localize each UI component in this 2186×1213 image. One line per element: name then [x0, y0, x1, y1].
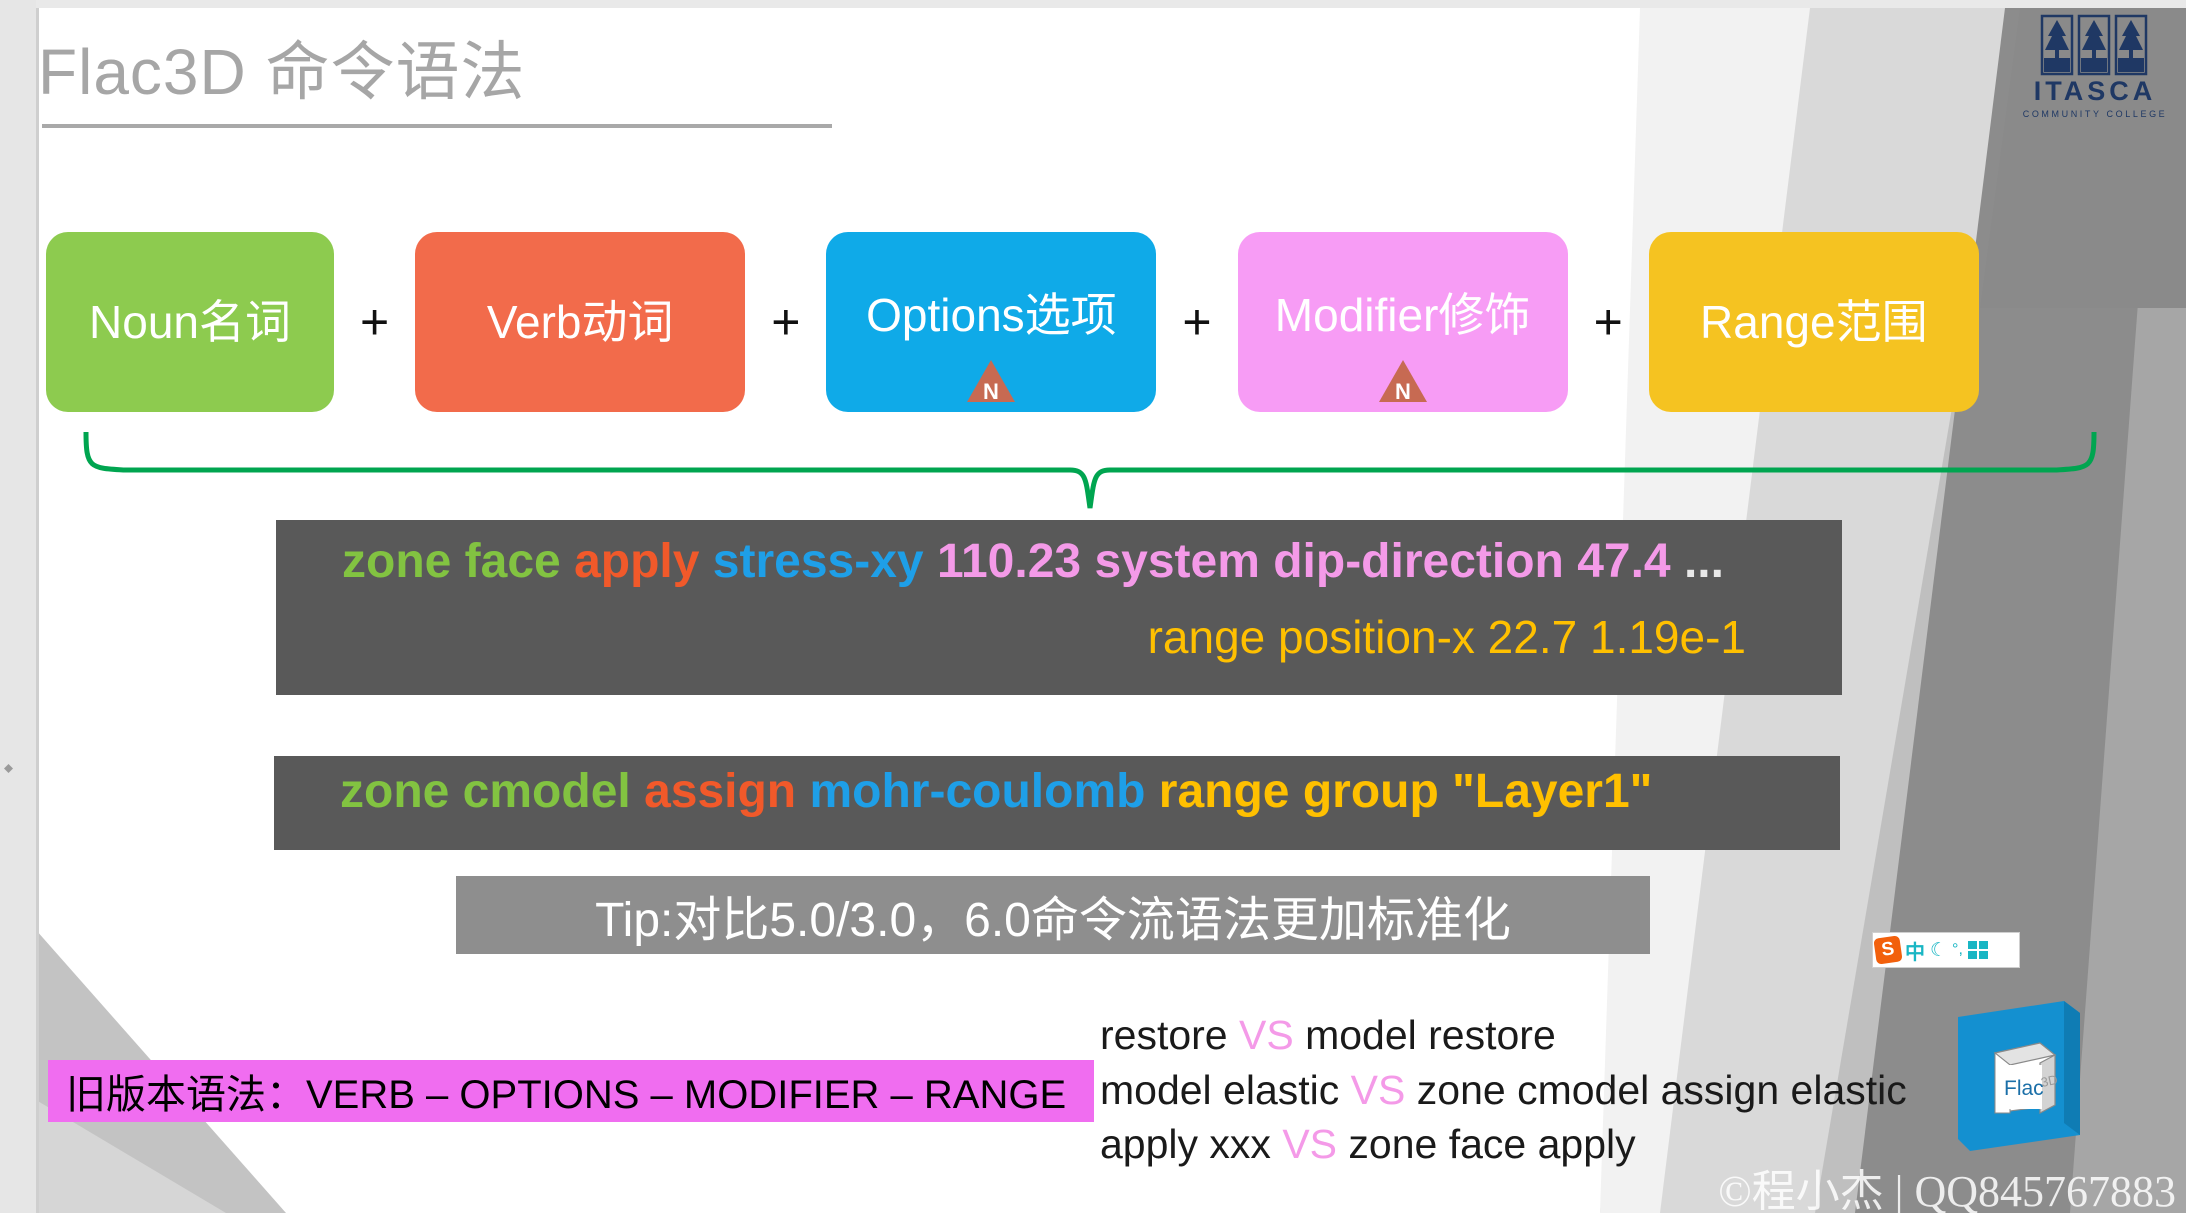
syntax-pill-label: Verb动词 — [487, 298, 674, 346]
command-token: zone cmodel — [340, 765, 644, 818]
syntax-formula-row: Noun名词+Verb动词+Options选项N+Modifier修饰N+Ran… — [46, 232, 2096, 412]
grouping-brace-icon — [80, 424, 2100, 514]
plus-separator: + — [1156, 297, 1237, 347]
command-token: 110.23 system dip-direction 47.4 — [937, 535, 1684, 588]
syntax-pill-label: Noun名词 — [89, 298, 291, 346]
title-underline — [42, 124, 832, 128]
plus-separator: + — [1568, 297, 1649, 347]
comparison-vs-label: VS — [1351, 1067, 1406, 1113]
three-pines-icon — [2040, 14, 2150, 76]
comparison-old: model elastic — [1100, 1067, 1351, 1113]
slide-frame-top — [0, 0, 2186, 8]
comparison-new: zone cmodel assign elastic — [1405, 1067, 1906, 1113]
syntax-pill: Modifier修饰N — [1238, 232, 1568, 412]
comparison-vs-label: VS — [1239, 1012, 1294, 1058]
page-title: Flac3D 命令语法 — [38, 22, 858, 122]
command-token: range group "Layer1" — [1159, 765, 1653, 818]
itasca-logo: ITASCA COMMUNITY COLLEGE — [2020, 14, 2170, 134]
plus-separator: + — [334, 297, 415, 347]
plus-separator: + — [745, 297, 826, 347]
sogou-ime-toolbar[interactable]: S 中 ☾ °, — [1872, 932, 2020, 968]
command-token: zone face — [342, 535, 574, 588]
command-token: range position-x 22.7 1.19e-1 — [1148, 611, 1746, 663]
svg-text:N: N — [1395, 379, 1411, 404]
slide-canvas: Flac3D 命令语法 ITASCA COMMUNITY COLLEGE Nou… — [0, 0, 2186, 1213]
comparison-new: model restore — [1294, 1012, 1556, 1058]
syntax-pill: Verb动词 — [415, 232, 745, 412]
watermark: ©程小杰 | QQ845767883 — [1718, 1155, 2176, 1213]
comparison-old: restore — [1100, 1012, 1239, 1058]
command-example-1: zone face apply stress-xy 110.23 system … — [276, 520, 1842, 695]
north-marker-icon: N — [965, 358, 1017, 404]
comparison-row: restore VS model restore — [1100, 1008, 1907, 1063]
ime-language-mode[interactable]: 中 — [1905, 936, 1925, 965]
logo-name: ITASCA — [2020, 78, 2170, 105]
syntax-pill-label: Options选项 — [866, 291, 1117, 339]
command-line-1: zone cmodel assign mohr-coulomb range gr… — [340, 764, 1652, 819]
command-token: stress-xy — [713, 535, 937, 588]
comparison-old: apply xxx — [1100, 1121, 1282, 1167]
comparison-new: zone face apply — [1337, 1121, 1636, 1167]
syntax-pill: Range范围 — [1649, 232, 1979, 412]
command-token: ... — [1684, 535, 1724, 588]
command-line-1: zone face apply stress-xy 110.23 system … — [342, 534, 1724, 589]
north-marker-icon: N — [1377, 358, 1429, 404]
ime-toolbox-icon[interactable] — [1968, 941, 1988, 959]
flac3d-app-icon: Flac 3D — [1940, 995, 2090, 1155]
comparison-list: restore VS model restoremodel elastic VS… — [1100, 1008, 1907, 1172]
slide-frame-left — [0, 0, 36, 1213]
tip-banner: Tip:对比5.0/3.0，6.0命令流语法更加标准化 — [456, 876, 1650, 954]
comparison-vs-label: VS — [1282, 1121, 1337, 1167]
command-token: mohr-coulomb — [809, 765, 1158, 818]
command-line-2: range position-x 22.7 1.19e-1 — [1148, 610, 1746, 664]
syntax-pill-label: Range范围 — [1700, 298, 1928, 346]
comparison-row: model elastic VS zone cmodel assign elas… — [1100, 1063, 1907, 1118]
ime-moon-icon[interactable]: ☾ — [1930, 939, 1947, 962]
syntax-pill: Noun名词 — [46, 232, 334, 412]
svg-text:N: N — [983, 379, 999, 404]
flac-icon-label: Flac — [2004, 1077, 2044, 1100]
command-example-2: zone cmodel assign mohr-coulomb range gr… — [274, 756, 1840, 850]
syntax-pill-label: Modifier修饰 — [1275, 291, 1531, 339]
ime-punctuation-icon[interactable]: °, — [1952, 941, 1963, 959]
slide-frame-left-rule — [36, 8, 39, 1213]
sogou-logo-icon[interactable]: S — [1873, 935, 1902, 964]
command-token: assign — [644, 765, 809, 818]
syntax-pill: Options选项N — [826, 232, 1156, 412]
command-token: apply — [574, 535, 713, 588]
logo-subtitle: COMMUNITY COLLEGE — [2020, 110, 2170, 119]
old-syntax-bar: 旧版本语法：VERB – OPTIONS – MODIFIER – RANGE — [48, 1060, 1094, 1122]
